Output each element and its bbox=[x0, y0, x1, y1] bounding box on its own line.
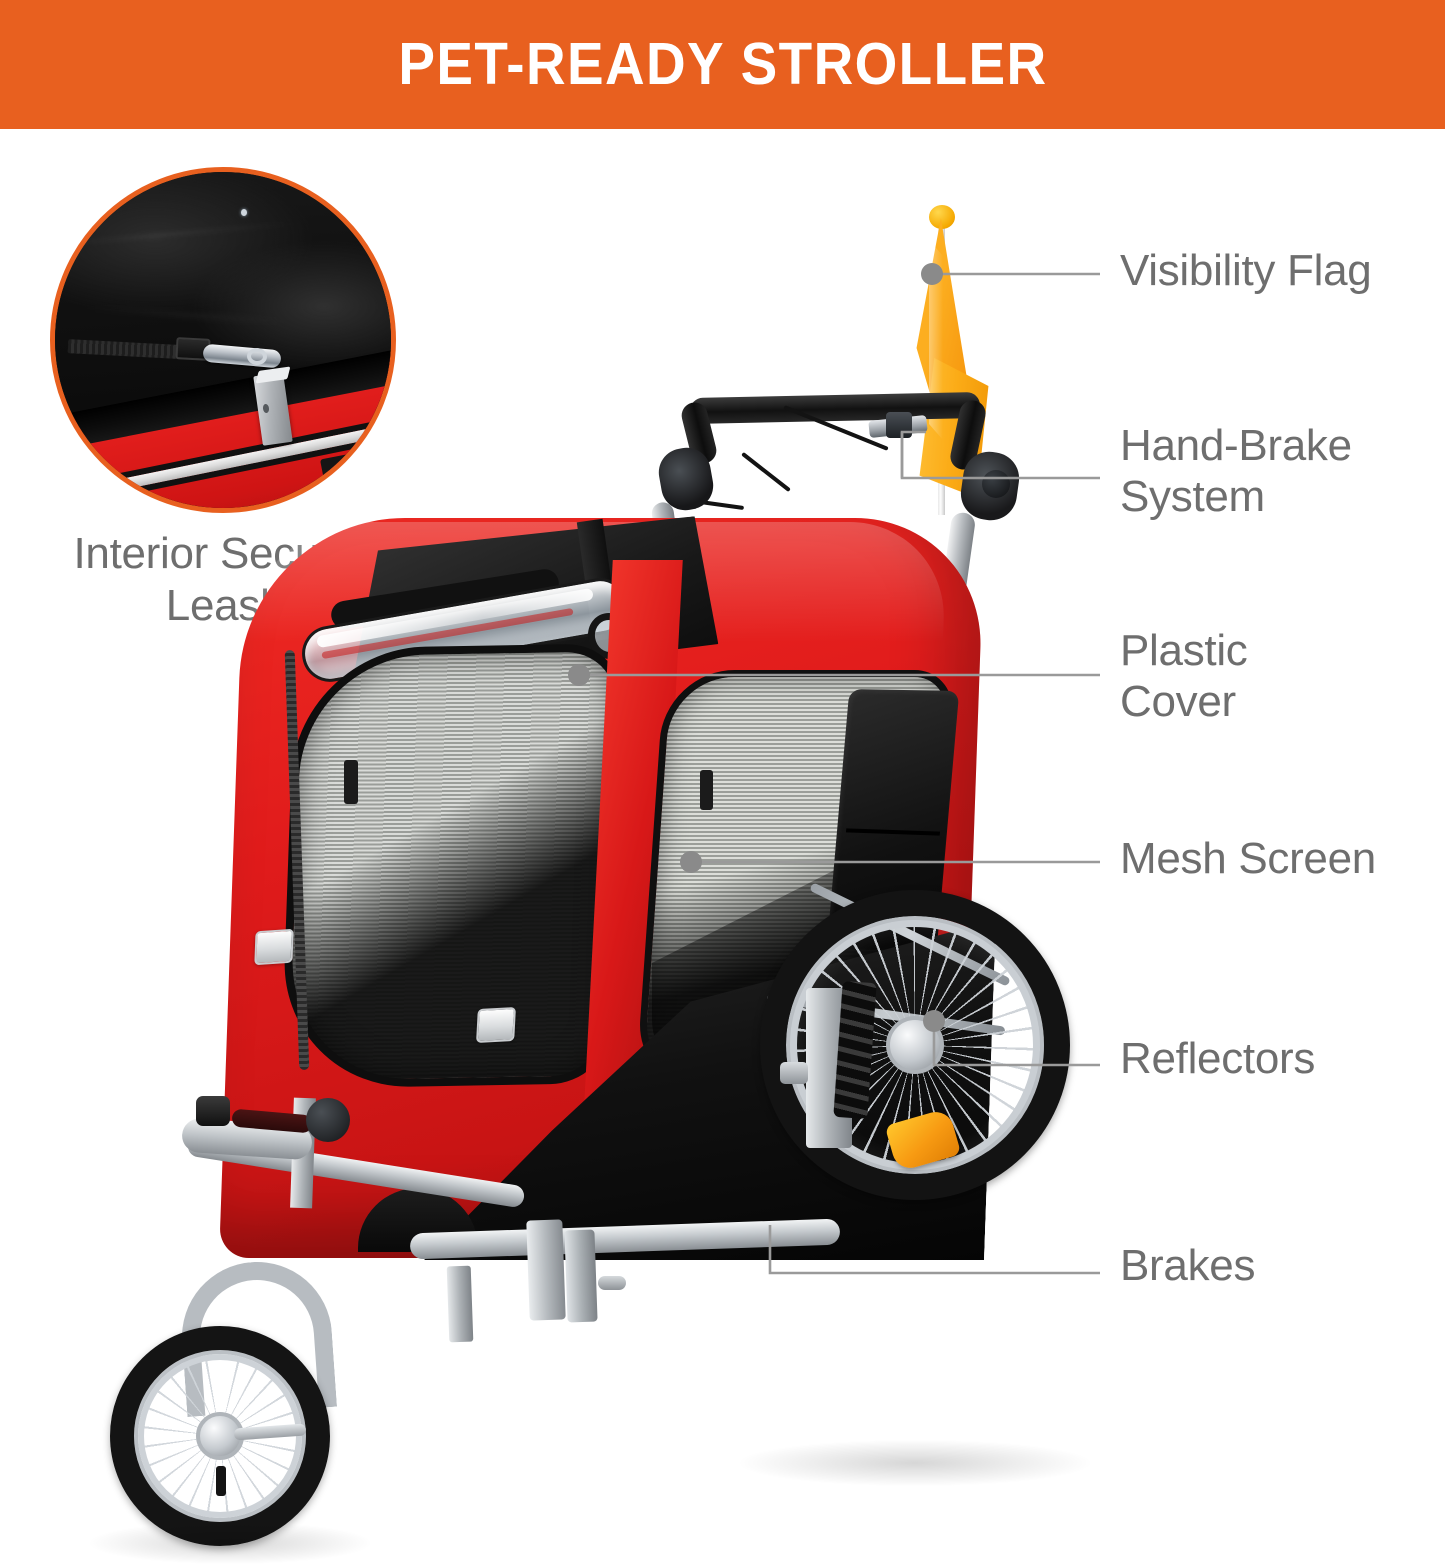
hitch-plate bbox=[564, 1230, 597, 1323]
product-image bbox=[0, 130, 1100, 1445]
callout-label-line: Plastic bbox=[1120, 626, 1248, 675]
callout-label-brakes: Brakes bbox=[1120, 1240, 1255, 1291]
ground-shadow bbox=[90, 1522, 370, 1564]
callout-label-reflectors: Reflectors bbox=[1120, 1033, 1315, 1084]
body-reflector bbox=[476, 1007, 516, 1043]
body-reflector bbox=[254, 929, 293, 966]
push-arm-hinge-knob bbox=[982, 470, 1010, 498]
page-title: PET-READY STROLLER bbox=[398, 35, 1047, 94]
hitch-pin bbox=[598, 1276, 626, 1290]
callout-label-hand-brake-system: Hand-BrakeSystem bbox=[1120, 420, 1352, 522]
left-window-tab bbox=[344, 760, 358, 804]
callout-label-mesh-screen: Mesh Screen bbox=[1120, 833, 1376, 884]
swivel-joint bbox=[306, 1098, 350, 1142]
front-tire-valve bbox=[216, 1466, 226, 1496]
callout-label-line: Cover bbox=[1120, 677, 1236, 726]
right-window-tab bbox=[700, 770, 713, 810]
callout-label-line: System bbox=[1120, 472, 1265, 521]
ground-shadow bbox=[740, 1440, 1090, 1486]
left-mesh-window bbox=[280, 643, 626, 1089]
brake-cable bbox=[741, 452, 791, 492]
callout-label-plastic-cover: PlasticCover bbox=[1120, 625, 1248, 727]
frame-support-foot bbox=[447, 1266, 474, 1343]
swivel-lock-knob bbox=[196, 1096, 230, 1126]
hand-brake-lever-body bbox=[886, 412, 912, 438]
rear-wheel-hub bbox=[886, 1016, 944, 1074]
header-bar: PET-READY STROLLER bbox=[0, 0, 1445, 129]
callout-label-visibility-flag: Visibility Flag bbox=[1120, 245, 1371, 296]
hitch-plate bbox=[526, 1219, 565, 1320]
callout-label-line: Hand-Brake bbox=[1120, 421, 1352, 470]
axle-bolt bbox=[780, 1062, 808, 1084]
